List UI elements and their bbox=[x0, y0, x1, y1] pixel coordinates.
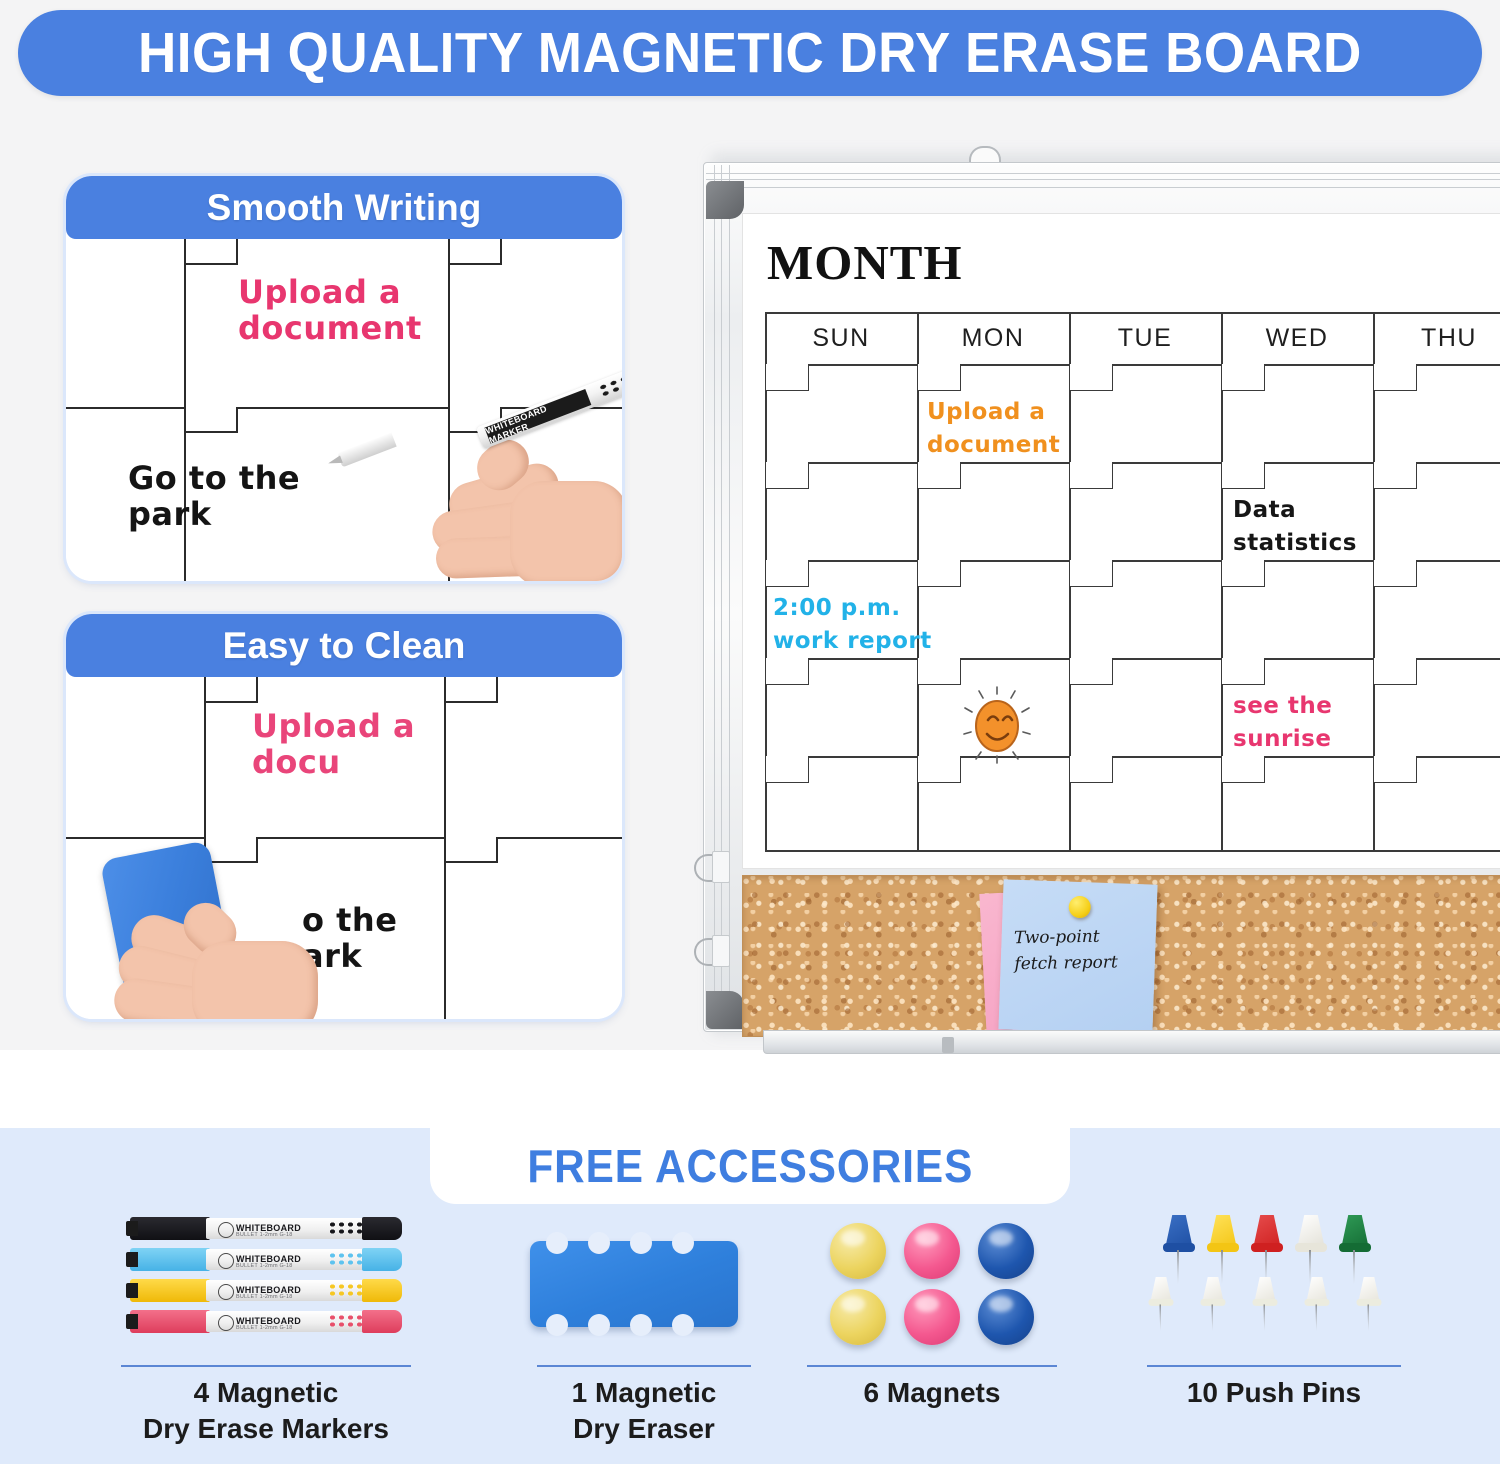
calendar-day-header: MON bbox=[917, 312, 1069, 364]
calendar-day-header: SUN bbox=[765, 312, 917, 364]
accessory-markers: WHITEBOARD BULLET 1-2mm G-18 WHITEBOARD … bbox=[30, 1215, 502, 1465]
mid-background bbox=[0, 1050, 1500, 1128]
feature-note-pink: Upload a docu bbox=[252, 709, 415, 781]
marker-spec-text: BULLET 1-2mm G-18 bbox=[236, 1325, 292, 1331]
pen-tray bbox=[763, 1030, 1500, 1054]
calendar-day-header: WED bbox=[1221, 312, 1373, 364]
accessory-eraser: 1 Magnetic Dry Eraser bbox=[502, 1215, 786, 1465]
frame-corner-cap bbox=[706, 181, 744, 219]
whiteboard-product-photo: MONTH SUN MON bbox=[703, 146, 1500, 1036]
product-infographic: HIGH QUALITY MAGNETIC DRY ERASE BOARD Sm… bbox=[0, 0, 1500, 1464]
headline-banner: HIGH QUALITY MAGNETIC DRY ERASE BOARD bbox=[18, 10, 1482, 96]
feature-note-pink: Upload a document bbox=[238, 275, 422, 347]
sticky-note-text: Two-point fetch report bbox=[1014, 923, 1147, 978]
headline-text: HIGH QUALITY MAGNETIC DRY ERASE BOARD bbox=[138, 25, 1362, 82]
calendar-entry-sun-week3: 2:00 p.m. work report bbox=[773, 592, 932, 659]
accessory-divider bbox=[121, 1365, 411, 1367]
eraser-icon bbox=[502, 1215, 786, 1353]
calendar-entry-wed-week2: Data statistics bbox=[1233, 494, 1357, 561]
accessory-push-pins: 10 Push Pins bbox=[1078, 1215, 1470, 1465]
hanging-hook-icon bbox=[694, 851, 728, 881]
hanging-hook-icon bbox=[694, 935, 728, 965]
accessory-divider bbox=[537, 1365, 751, 1367]
feature-note-black: o the ark bbox=[302, 903, 397, 975]
magnets-icon bbox=[786, 1215, 1078, 1353]
feature-panel-header: Easy to Clean bbox=[66, 614, 622, 677]
whiteboard-surface: MONTH SUN MON bbox=[742, 213, 1500, 869]
calendar-grid: SUN MON TUE WED THU bbox=[765, 312, 1500, 852]
feature-panel-smooth-writing: Smooth Writing Upload a document Go to t… bbox=[66, 176, 622, 581]
feature-panel-header: Smooth Writing bbox=[66, 176, 622, 239]
marker-spec-text: BULLET 1-2mm G-18 bbox=[236, 1294, 292, 1300]
aluminum-frame: MONTH SUN MON bbox=[703, 162, 1500, 1032]
hand-with-eraser-icon bbox=[96, 845, 311, 1019]
accessory-magnets: 6 Magnets bbox=[786, 1215, 1078, 1465]
hand-with-marker-icon: WHITEBOARD MARKER bbox=[388, 421, 622, 581]
frame-corner-cap bbox=[706, 991, 744, 1029]
accessory-divider bbox=[807, 1365, 1057, 1367]
accessory-caption: 4 Magnetic Dry Erase Markers bbox=[30, 1375, 502, 1447]
yellow-push-pin-icon bbox=[1068, 896, 1091, 919]
feature-note-black: Go to the park bbox=[128, 461, 300, 533]
marker-spec-text: BULLET 1-2mm G-18 bbox=[236, 1263, 292, 1269]
month-title: MONTH bbox=[767, 238, 963, 287]
free-accessories-banner: FREE ACCESSORIES bbox=[430, 1128, 1070, 1204]
sticky-note-blue: Two-point fetch report bbox=[998, 879, 1157, 1034]
accessory-caption: 1 Magnetic Dry Eraser bbox=[502, 1375, 786, 1447]
feature-panel-body: Upload a docu o the ark bbox=[66, 677, 622, 1019]
feature-panel-easy-to-clean: Easy to Clean Upload a docu o the ark bbox=[66, 614, 622, 1019]
accessory-caption: 10 Push Pins bbox=[1078, 1375, 1470, 1411]
calendar-entry-mon-week1: Upload a document bbox=[927, 396, 1060, 463]
feature-panel-title: Smooth Writing bbox=[207, 189, 482, 226]
accessory-divider bbox=[1147, 1365, 1401, 1367]
marker-spec-text: BULLET 1-2mm G-18 bbox=[236, 1232, 292, 1238]
feature-panel-body: Upload a document Go to the park WHITEBO… bbox=[66, 239, 622, 581]
markers-icon: WHITEBOARD BULLET 1-2mm G-18 WHITEBOARD … bbox=[30, 1215, 502, 1353]
push-pins-icon bbox=[1078, 1215, 1470, 1353]
feature-panel-title: Easy to Clean bbox=[223, 627, 466, 664]
accessory-caption: 6 Magnets bbox=[786, 1375, 1078, 1411]
cork-board: Two-point fetch report bbox=[742, 875, 1500, 1037]
calendar-day-header: TUE bbox=[1069, 312, 1221, 364]
calendar-entry-wed-week4: see the sunrise bbox=[1233, 690, 1332, 757]
calendar-day-header: THU bbox=[1373, 312, 1500, 364]
sun-smiley-doodle bbox=[961, 686, 1033, 764]
free-accessories-title: FREE ACCESSORIES bbox=[527, 1139, 973, 1193]
